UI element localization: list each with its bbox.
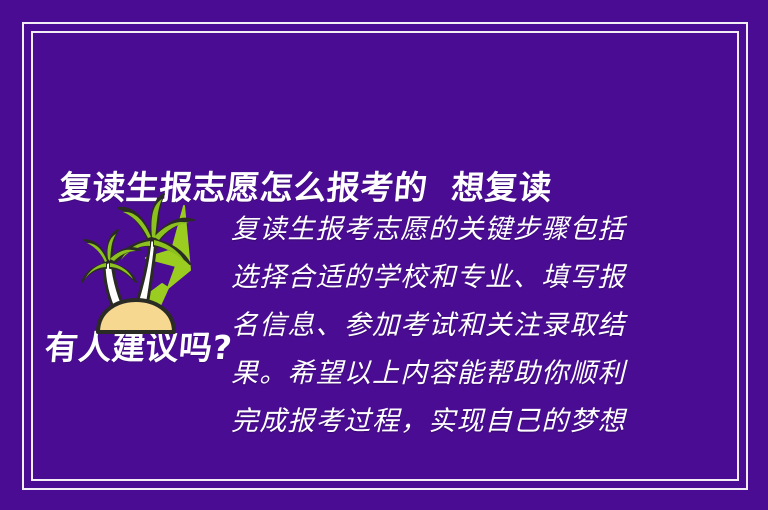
body-line-2: 选择合适的学校和专业、填写报 (231, 254, 655, 302)
body-line-5: 完成报考过程，实现自己的梦想 (231, 398, 655, 446)
body-line-1: 复读生报考志愿的关键步骤包括 (231, 206, 655, 254)
palm-tree-island-icon (72, 192, 222, 344)
body-paragraph: 复读生报考志愿的关键步骤包括 选择合适的学校和专业、填写报 名信息、参加考试和关… (231, 206, 655, 446)
body-line-4: 果。希望以上内容能帮助你顺利 (231, 350, 655, 398)
poster-canvas: 复读生报志愿怎么报考的 想复读 有人建议吗? (0, 0, 768, 510)
body-line-3: 名信息、参加考试和关注录取结 (231, 302, 655, 350)
